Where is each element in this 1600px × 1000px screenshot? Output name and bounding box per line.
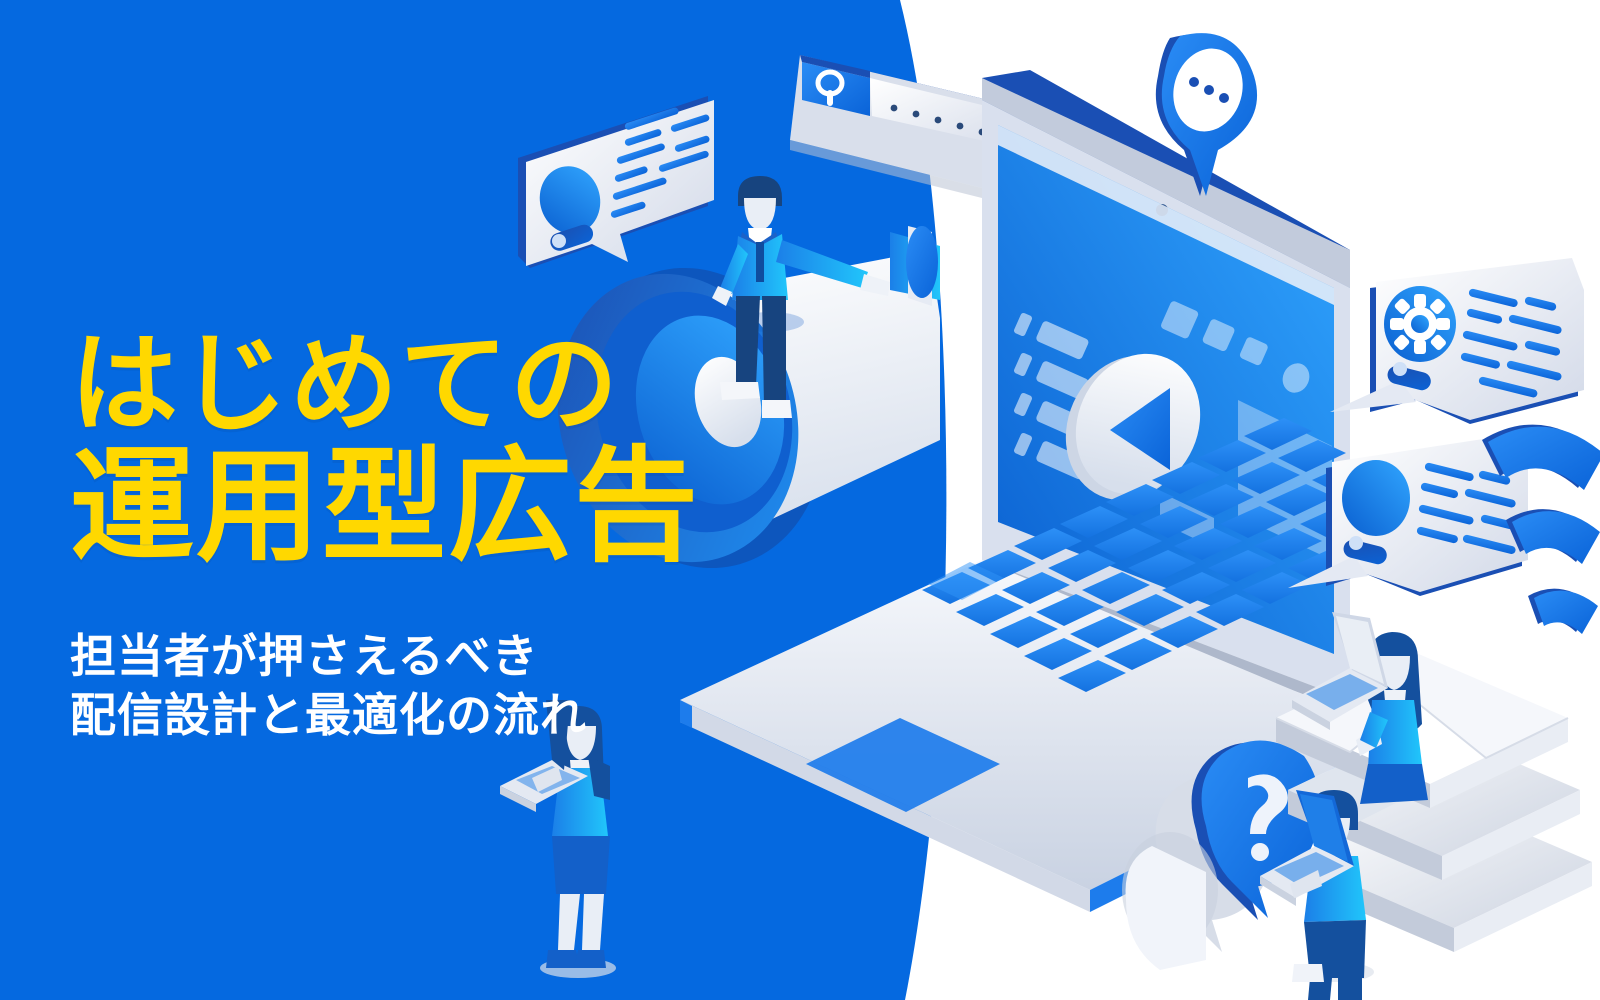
hero-text-block: はじめての 運用型広告 担当者が押さえるべき 配信設計と最適化の流れ <box>70 330 890 746</box>
hero-banner: はじめての 運用型広告 担当者が押さえるべき 配信設計と最適化の流れ <box>0 0 1600 1000</box>
gear-icon <box>1384 286 1456 362</box>
avatar <box>1342 460 1410 536</box>
profile-card[interactable] <box>518 96 714 268</box>
page-title-line-1: はじめての <box>70 330 890 440</box>
page-subtitle-line-1: 担当者が押さえるべき <box>70 627 890 687</box>
settings-card[interactable] <box>1330 258 1584 424</box>
page-subtitle-line-2: 配信設計と最適化の流れ <box>70 686 890 746</box>
page-title-line-2: 運用型広告 <box>70 444 890 570</box>
